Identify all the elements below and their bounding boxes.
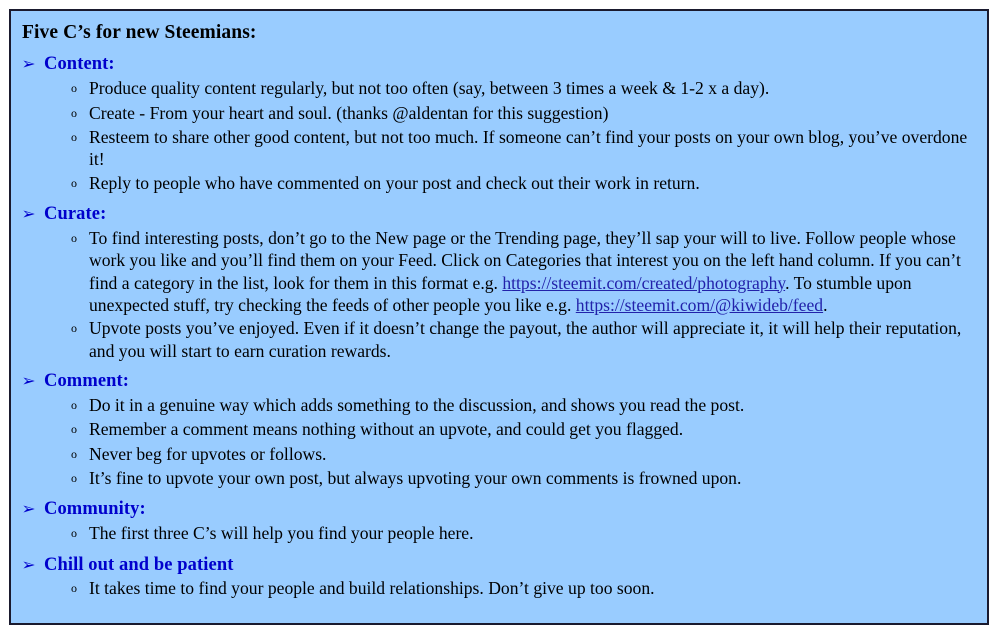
- arrow-bullet-icon: ➢: [21, 500, 44, 519]
- circle-bullet-icon: o: [71, 577, 89, 600]
- list-item: oThe first three C’s will help you find …: [71, 522, 987, 545]
- circle-bullet-icon: o: [71, 443, 89, 466]
- section-title-text: Comment:: [44, 371, 129, 393]
- inline-link[interactable]: https://steemit.com/@kiwideb/feed: [576, 295, 823, 315]
- circle-bullet-icon: o: [71, 394, 89, 417]
- list-item-text: Resteem to share other good content, but…: [89, 126, 987, 171]
- circle-bullet-icon: o: [71, 126, 89, 149]
- bullet-list: oTo find interesting posts, don’t go to …: [11, 227, 987, 362]
- list-item-text: It takes time to find your people and bu…: [89, 577, 987, 599]
- section-title-text: Community:: [44, 499, 146, 521]
- section-title-text: Curate:: [44, 204, 106, 226]
- bullet-list: oIt takes time to find your people and b…: [11, 577, 987, 600]
- arrow-bullet-icon: ➢: [21, 372, 44, 391]
- circle-bullet-icon: o: [71, 77, 89, 100]
- section: ➢Curate:oTo find interesting posts, don’…: [11, 204, 987, 362]
- arrow-bullet-icon: ➢: [21, 55, 44, 74]
- list-item: oNever beg for upvotes or follows.: [71, 443, 987, 466]
- section: ➢Community:oThe first three C’s will hel…: [11, 499, 987, 545]
- section-heading: ➢Comment:: [22, 371, 987, 393]
- arrow-bullet-icon: ➢: [21, 205, 44, 224]
- list-item-text: Reply to people who have commented on yo…: [89, 172, 987, 194]
- list-item: oProduce quality content regularly, but …: [71, 77, 987, 100]
- circle-bullet-icon: o: [71, 102, 89, 125]
- list-item: oCreate - From your heart and soul. (tha…: [71, 102, 987, 125]
- document-panel: Five C’s for new Steemians: ➢Content:oPr…: [9, 9, 989, 625]
- section-title-text: Chill out and be patient: [44, 555, 234, 577]
- list-item: oResteem to share other good content, bu…: [71, 126, 987, 171]
- inline-link[interactable]: https://steemit.com/created/photography: [502, 273, 785, 293]
- bullet-list: oDo it in a genuine way which adds somet…: [11, 394, 987, 491]
- list-item: oIt’s fine to upvote your own post, but …: [71, 467, 987, 490]
- list-item-text: Remember a comment means nothing without…: [89, 418, 987, 440]
- list-item-text: Create - From your heart and soul. (than…: [89, 102, 987, 124]
- text-run: .: [823, 295, 827, 315]
- list-item: oTo find interesting posts, don’t go to …: [71, 227, 987, 316]
- list-item: oUpvote posts you’ve enjoyed. Even if it…: [71, 317, 987, 362]
- circle-bullet-icon: o: [71, 467, 89, 490]
- circle-bullet-icon: o: [71, 418, 89, 441]
- sections-container: ➢Content:oProduce quality content regula…: [11, 54, 987, 600]
- list-item-text: To find interesting posts, don’t go to t…: [89, 227, 987, 316]
- list-item-text: Upvote posts you’ve enjoyed. Even if it …: [89, 317, 987, 362]
- list-item-text: It’s fine to upvote your own post, but a…: [89, 467, 987, 489]
- circle-bullet-icon: o: [71, 227, 89, 250]
- circle-bullet-icon: o: [71, 172, 89, 195]
- section-heading: ➢Curate:: [22, 204, 987, 226]
- section-heading: ➢Content:: [22, 54, 987, 76]
- list-item-text: Never beg for upvotes or follows.: [89, 443, 987, 465]
- section: ➢Comment:oDo it in a genuine way which a…: [11, 371, 987, 490]
- list-item: oRemember a comment means nothing withou…: [71, 418, 987, 441]
- section: ➢Chill out and be patientoIt takes time …: [11, 555, 987, 601]
- list-item-text: Do it in a genuine way which adds someth…: [89, 394, 987, 416]
- list-item-text: The first three C’s will help you find y…: [89, 522, 987, 544]
- list-item: oIt takes time to find your people and b…: [71, 577, 987, 600]
- section-title-text: Content:: [44, 54, 115, 76]
- list-item: oDo it in a genuine way which adds somet…: [71, 394, 987, 417]
- page-title: Five C’s for new Steemians:: [22, 21, 987, 45]
- circle-bullet-icon: o: [71, 522, 89, 545]
- bullet-list: oThe first three C’s will help you find …: [11, 522, 987, 545]
- list-item: oReply to people who have commented on y…: [71, 172, 987, 195]
- arrow-bullet-icon: ➢: [21, 556, 44, 575]
- circle-bullet-icon: o: [71, 317, 89, 340]
- section-heading: ➢Community:: [22, 499, 987, 521]
- list-item-text: Produce quality content regularly, but n…: [89, 77, 987, 99]
- bullet-list: oProduce quality content regularly, but …: [11, 77, 987, 195]
- section-heading: ➢Chill out and be patient: [22, 555, 987, 577]
- section: ➢Content:oProduce quality content regula…: [11, 54, 987, 195]
